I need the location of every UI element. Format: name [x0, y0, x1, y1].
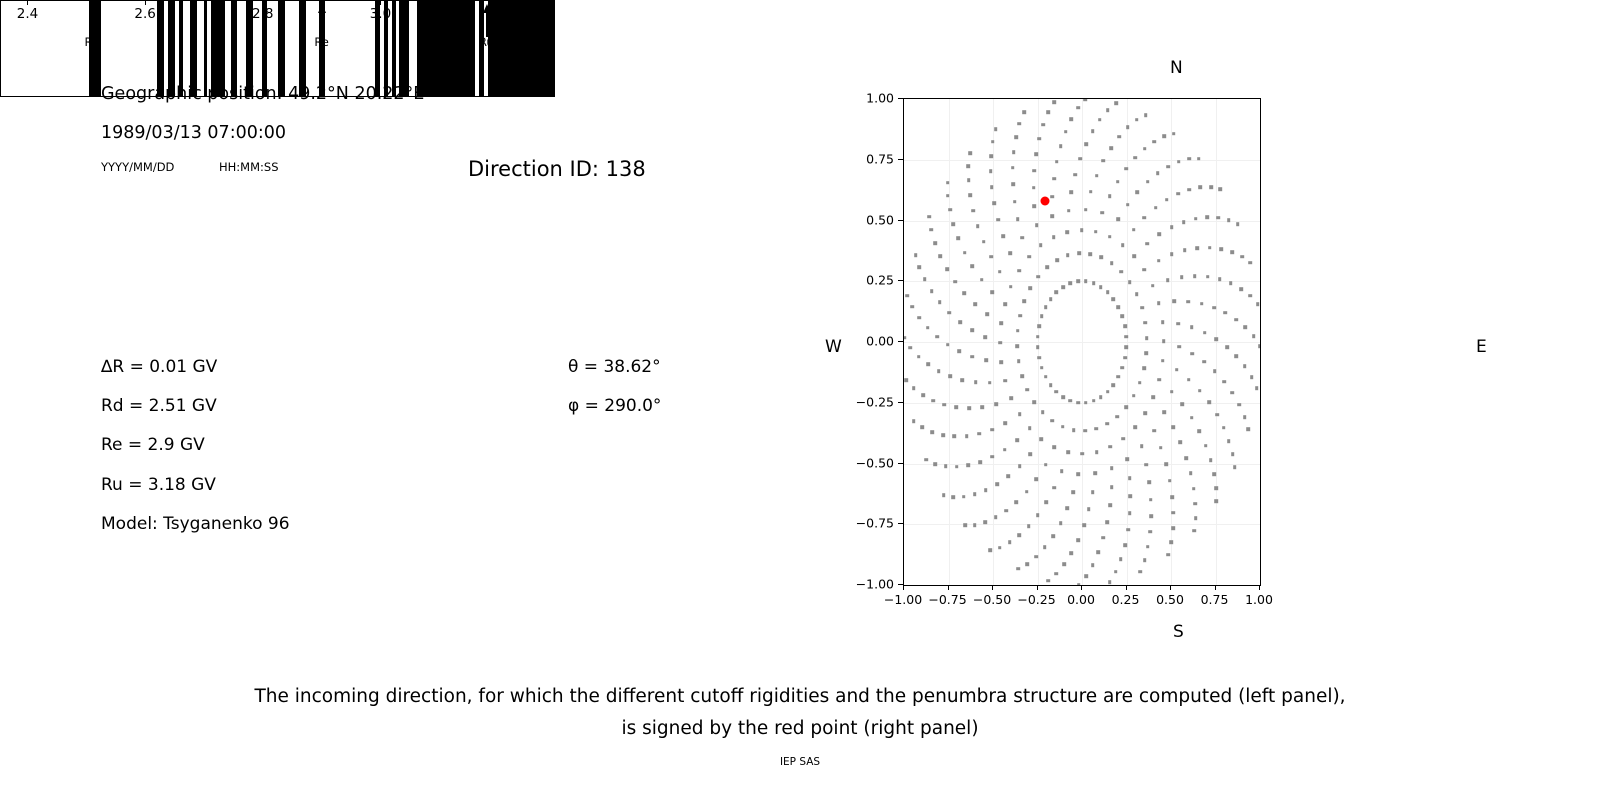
direction-dot: [1044, 305, 1048, 309]
direction-dot: [1140, 306, 1144, 310]
direction-dot: [1161, 359, 1165, 363]
penumbra-tick-label: 2.6: [134, 6, 155, 22]
direction-dot: [1033, 204, 1037, 208]
direction-dot: [1084, 575, 1088, 579]
direction-dot: [953, 280, 957, 284]
polar-x-tick-mark: [1215, 585, 1216, 590]
direction-dot: [1212, 472, 1216, 476]
param-rd: Rd = 2.51 GV: [101, 396, 217, 416]
direction-dot: [1239, 287, 1243, 291]
direction-dot: [1091, 563, 1095, 567]
direction-dot: [1202, 360, 1206, 364]
polar-x-tick-mark: [1170, 585, 1171, 590]
param-theta: θ = 38.62°: [568, 357, 661, 377]
direction-dot: [1055, 258, 1059, 262]
direction-dot: [944, 464, 948, 468]
compass-west-label: W: [825, 337, 842, 357]
penumbra-tick-label: 3.0: [370, 6, 391, 22]
direction-dot: [1109, 445, 1113, 449]
polar-y-tick-mark: [898, 523, 903, 524]
direction-dot: [990, 185, 994, 189]
direction-dot: [1076, 106, 1080, 110]
direction-dot: [978, 460, 982, 464]
direction-dot: [937, 369, 941, 373]
direction-dot: [1144, 113, 1148, 117]
direction-dot: [1237, 403, 1241, 407]
direction-dot: [1108, 503, 1112, 507]
direction-dot: [1036, 513, 1040, 517]
direction-map-panel: N E W S −1.00−0.75−0.50−0.250.000.250.50…: [800, 0, 1600, 660]
direction-dot: [1135, 118, 1139, 122]
direction-dot: [1067, 209, 1071, 213]
direction-dot: [994, 516, 998, 520]
direction-dot: [1208, 246, 1212, 250]
polar-y-tick-label: 1.00: [866, 91, 894, 106]
direction-dot: [973, 523, 977, 527]
direction-dot: [1066, 230, 1070, 234]
penumbra-allowed-band: [392, 1, 396, 96]
direction-dot: [1227, 218, 1231, 222]
direction-dot: [988, 381, 992, 385]
direction-dot: [1145, 352, 1149, 356]
caption-line-1: The incoming direction, for which the di…: [0, 686, 1600, 707]
direction-dot: [1126, 126, 1130, 130]
direction-dot: [1060, 470, 1064, 474]
direction-dot: [1072, 428, 1076, 432]
penumbra-tick-mark: [380, 0, 381, 5]
penumbra-allowed-band: [278, 1, 284, 96]
direction-dot: [1025, 388, 1029, 392]
direction-dot: [939, 255, 943, 259]
direction-dot: [1224, 311, 1228, 315]
direction-dot: [958, 350, 962, 354]
direction-dot: [952, 222, 956, 226]
direction-dot: [955, 405, 959, 409]
direction-dot: [1066, 507, 1070, 511]
penumbra-allowed-band: [417, 1, 475, 96]
penumbra-allowed-band: [204, 1, 208, 96]
direction-dot: [1109, 146, 1113, 150]
penumbra-tick-mark: [27, 0, 28, 5]
direction-dot: [1215, 338, 1219, 342]
polar-y-tick-mark: [898, 402, 903, 403]
direction-dot: [1166, 278, 1170, 282]
direction-dot: [1070, 117, 1074, 121]
direction-dot: [1222, 426, 1226, 430]
direction-dot: [1194, 516, 1198, 520]
direction-dot: [970, 329, 974, 333]
direction-dot: [1001, 235, 1005, 239]
direction-dot: [1187, 300, 1191, 304]
direction-dot: [1029, 452, 1033, 456]
direction-dot: [1110, 466, 1114, 470]
direction-dot: [930, 430, 934, 434]
direction-dot: [1099, 395, 1103, 399]
direction-dot: [1157, 233, 1161, 237]
direction-dot: [914, 253, 918, 257]
direction-dot: [1212, 306, 1216, 310]
direction-dot: [1162, 411, 1166, 415]
penumbra-tick-mark: [263, 0, 264, 5]
direction-dot: [1170, 225, 1174, 229]
direction-dot: [1205, 216, 1209, 220]
penumbra-plot: [0, 0, 555, 97]
direction-dot: [1025, 562, 1029, 566]
direction-dot: [903, 336, 906, 340]
polar-x-tick-label: 0.50: [1156, 592, 1184, 607]
direction-dot: [1115, 415, 1119, 419]
direction-dot: [1034, 555, 1038, 559]
direction-dot: [1133, 254, 1137, 258]
direction-dot: [1029, 286, 1033, 290]
direction-dot: [1055, 390, 1059, 394]
direction-dot: [1128, 476, 1132, 480]
direction-dot: [948, 375, 952, 379]
polar-x-tick-label: 0.25: [1112, 592, 1140, 607]
direction-dot: [1121, 437, 1125, 441]
param-ru: Ru = 3.18 GV: [101, 475, 216, 495]
direction-dot: [1105, 520, 1109, 524]
polar-x-tick-label: 0.75: [1201, 592, 1229, 607]
direction-dot: [1196, 246, 1200, 250]
direction-dot: [1041, 411, 1045, 415]
direction-dot: [1190, 326, 1194, 330]
direction-dot: [1098, 118, 1102, 122]
direction-dot: [1099, 285, 1103, 289]
direction-dot: [1136, 191, 1140, 195]
direction-dot: [1018, 412, 1022, 416]
direction-dot: [1125, 335, 1129, 339]
direction-dot: [905, 294, 909, 298]
cutoff-marker-label-rd: Rd: [85, 35, 100, 49]
direction-dot: [1252, 335, 1256, 339]
direction-dot: [1053, 445, 1057, 449]
direction-dot: [1061, 395, 1065, 399]
direction-dot: [1209, 185, 1213, 189]
direction-dot: [1222, 380, 1226, 384]
direction-dot: [1040, 315, 1044, 319]
polar-y-tick-mark: [898, 280, 903, 281]
direction-dot: [989, 169, 993, 173]
polar-y-tick-label: −0.50: [856, 455, 894, 470]
direction-dot: [1037, 137, 1041, 141]
direction-dot: [942, 493, 946, 497]
direction-dot: [1012, 150, 1016, 154]
direction-dot: [1180, 275, 1184, 279]
penumbra-tick-mark: [145, 0, 146, 5]
direction-dot: [1119, 557, 1123, 561]
direction-dot: [1167, 165, 1171, 169]
direction-dot: [925, 458, 929, 462]
polar-x-tick-mark: [1081, 585, 1082, 590]
direction-dot: [1100, 256, 1104, 260]
direction-dot: [1170, 390, 1174, 394]
direction-dot: [1069, 282, 1073, 286]
direction-dot: [1036, 335, 1040, 339]
direction-dot: [926, 363, 930, 367]
penumbra-tick-label: 2.8: [252, 6, 273, 22]
direction-dot: [955, 465, 959, 469]
direction-dot: [1140, 445, 1144, 449]
direction-dot: [989, 548, 993, 552]
direction-dot: [1123, 324, 1127, 328]
direction-dot: [1187, 378, 1191, 382]
param-model: Model: Tsyganenko 96: [101, 514, 290, 534]
direction-dot: [1016, 218, 1020, 222]
direction-dot: [1126, 457, 1130, 461]
direction-dot: [1157, 259, 1161, 263]
direction-dot: [1077, 473, 1081, 477]
polar-x-tick-label: −1.00: [884, 592, 922, 607]
direction-dot: [1231, 391, 1235, 395]
direction-dot: [1187, 157, 1191, 161]
direction-dot: [1017, 360, 1021, 364]
direction-dot: [1162, 340, 1166, 344]
direction-dot: [1072, 490, 1076, 494]
direction-dot: [1170, 495, 1174, 499]
direction-dot: [991, 455, 995, 459]
direction-dot: [1087, 508, 1091, 512]
direction-dot: [983, 520, 987, 524]
direction-dot: [1213, 369, 1217, 373]
direction-dot: [1102, 159, 1106, 163]
direction-dot: [1121, 366, 1125, 370]
direction-dot: [1032, 400, 1036, 404]
direction-dot: [1055, 160, 1059, 164]
direction-dot: [1157, 378, 1161, 382]
polar-y-tick-label: −0.25: [856, 394, 894, 409]
polar-y-tick-label: −1.00: [856, 577, 894, 592]
direction-dot: [1108, 194, 1112, 198]
direction-dot: [1143, 147, 1147, 151]
direction-dot: [1198, 389, 1202, 393]
direction-dot: [1190, 352, 1194, 356]
direction-dot: [935, 335, 939, 339]
direction-dot: [1215, 500, 1219, 504]
direction-dot: [1165, 198, 1169, 202]
direction-dot: [1114, 570, 1118, 574]
direction-dot: [1035, 223, 1039, 227]
direction-dot: [1256, 302, 1260, 306]
gridline-horizontal: [904, 221, 1260, 222]
direction-dot: [1000, 321, 1004, 325]
direction-dot: [1106, 390, 1110, 394]
direction-dot: [1076, 538, 1080, 542]
direction-dot: [1066, 450, 1070, 454]
direction-dot: [1117, 135, 1121, 139]
compass-east-label: E: [1476, 337, 1487, 357]
direction-dot: [1022, 110, 1026, 114]
direction-dot: [972, 209, 976, 213]
direction-dot: [1097, 550, 1101, 554]
direction-dot: [998, 270, 1002, 274]
direction-dot: [1017, 533, 1021, 537]
cutoff-marker-label-ru: Ru: [479, 35, 494, 49]
direction-dot: [1177, 345, 1181, 349]
param-re: Re = 2.9 GV: [101, 435, 205, 455]
direction-dot: [1008, 541, 1012, 545]
direction-dot: [984, 358, 988, 362]
direction-dot: [1128, 280, 1132, 284]
direction-dot: [1126, 203, 1130, 207]
direction-dot: [946, 343, 950, 347]
direction-dot: [1000, 360, 1004, 364]
direction-dot: [1089, 252, 1093, 256]
direction-dot: [1084, 280, 1088, 284]
direction-scatter-plot: [903, 98, 1261, 586]
direction-dot: [1049, 297, 1053, 301]
direction-dot: [1148, 530, 1152, 534]
direction-dot: [1235, 355, 1239, 359]
direction-dot: [951, 495, 955, 499]
time-format-hint: HH:MM:SS: [219, 160, 279, 174]
polar-x-tick-label: −0.50: [973, 592, 1011, 607]
direction-dot: [948, 208, 952, 212]
direction-dot: [1176, 322, 1180, 326]
direction-dot: [1124, 167, 1128, 171]
direction-dot: [1023, 299, 1027, 303]
direction-dot: [994, 128, 998, 132]
direction-dot: [973, 303, 977, 307]
caption-line-2: is signed by the red point (right panel): [0, 718, 1600, 739]
direction-dot: [1255, 387, 1259, 391]
direction-dot: [1246, 427, 1250, 431]
direction-dot: [1132, 228, 1136, 232]
penumbra-tick-mark: [498, 0, 499, 5]
selected-direction-point[interactable]: [1041, 197, 1050, 206]
polar-x-tick-mark: [1126, 585, 1127, 590]
direction-dot: [1129, 494, 1133, 498]
direction-dot: [1133, 156, 1137, 160]
polar-x-tick-mark: [903, 585, 904, 590]
direction-dot: [1234, 318, 1238, 322]
direction-dot: [1102, 536, 1106, 540]
direction-dot: [1144, 463, 1148, 467]
direction-dot: [1041, 123, 1045, 127]
direction-dot: [946, 181, 950, 185]
direction-dot: [1051, 534, 1055, 538]
direction-dot: [1062, 562, 1066, 566]
direction-dot: [1020, 374, 1024, 378]
polar-y-tick-label: 0.25: [866, 273, 894, 288]
direction-dot: [1152, 429, 1156, 433]
direction-dot: [968, 151, 972, 155]
direction-dot: [1123, 543, 1127, 547]
direction-dot: [1028, 426, 1032, 430]
direction-dot: [1043, 545, 1047, 549]
direction-dot: [1070, 190, 1074, 194]
direction-dot: [1108, 235, 1112, 239]
direction-dot: [1159, 446, 1163, 450]
direction-dot: [1037, 356, 1041, 360]
cutoff-marker-label-re: Re: [314, 35, 329, 49]
direction-dot: [1003, 448, 1007, 452]
compass-north-label: N: [1170, 58, 1183, 78]
direction-dot: [1121, 315, 1125, 319]
direction-dot: [957, 237, 961, 241]
polar-x-tick-label: −0.25: [1017, 592, 1055, 607]
polar-y-tick-mark: [898, 463, 903, 464]
direction-dot: [1051, 195, 1055, 199]
direction-dot: [1207, 400, 1211, 404]
direction-dot: [1073, 173, 1077, 177]
polar-y-tick-mark: [898, 98, 903, 99]
direction-dot: [1095, 174, 1099, 178]
direction-dot: [923, 278, 927, 282]
polar-x-tick-label: −0.75: [928, 592, 966, 607]
param-phi: φ = 290.0°: [568, 396, 661, 416]
direction-dot: [1045, 501, 1049, 505]
direction-dot: [1227, 439, 1231, 443]
direction-dot: [1014, 136, 1018, 140]
direction-dot: [991, 140, 995, 144]
direction-dot: [1017, 269, 1021, 273]
direction-dot: [1123, 356, 1127, 360]
direction-dot: [1157, 301, 1161, 305]
direction-dot: [996, 218, 1000, 222]
direction-dot: [1243, 365, 1247, 369]
direction-dot: [1258, 344, 1261, 348]
direction-dot: [1084, 208, 1088, 212]
direction-dot: [1146, 180, 1150, 184]
direction-dot: [933, 241, 937, 245]
direction-dot: [917, 316, 921, 320]
direction-dot: [1117, 305, 1121, 309]
direction-dot: [962, 495, 966, 499]
polar-y-tick-label: −0.75: [856, 516, 894, 531]
direction-dot: [1018, 314, 1022, 318]
penumbra-allowed-band: [168, 1, 175, 96]
direction-dot: [1077, 252, 1081, 256]
direction-dot: [990, 290, 994, 294]
direction-dot: [1184, 456, 1188, 460]
gridline-horizontal: [904, 342, 1260, 343]
direction-dot: [1198, 430, 1202, 434]
direction-dot: [980, 278, 984, 282]
direction-dot: [1045, 266, 1049, 270]
direction-dot: [1203, 331, 1207, 335]
direction-dot: [976, 224, 980, 228]
direction-dot: [1193, 502, 1197, 506]
direction-dot: [1040, 366, 1044, 370]
direction-dot: [953, 435, 957, 439]
direction-dot: [1183, 248, 1187, 252]
direction-dot: [1146, 545, 1150, 549]
direction-dot: [1172, 132, 1176, 136]
direction-dot: [1080, 228, 1084, 232]
direction-dot: [1147, 481, 1151, 485]
direction-dot: [1003, 302, 1007, 306]
direction-dot: [1066, 254, 1070, 258]
direction-dot: [1128, 512, 1132, 516]
direction-dot: [1243, 415, 1247, 419]
direction-dot: [1044, 375, 1048, 379]
direction-dot: [1081, 452, 1085, 456]
direction-dot: [1106, 108, 1110, 112]
direction-dot: [967, 406, 971, 410]
direction-dot: [1206, 275, 1210, 279]
direction-dot: [1004, 422, 1008, 426]
direction-dot: [1240, 255, 1244, 259]
direction-dot: [1032, 169, 1036, 173]
direction-dot: [963, 292, 967, 296]
direction-dot: [967, 463, 971, 467]
direction-dot: [917, 355, 921, 359]
direction-dot: [1149, 514, 1153, 518]
polar-y-tick-mark: [898, 341, 903, 342]
direction-dot: [1050, 419, 1054, 423]
direction-dot: [1200, 302, 1204, 306]
